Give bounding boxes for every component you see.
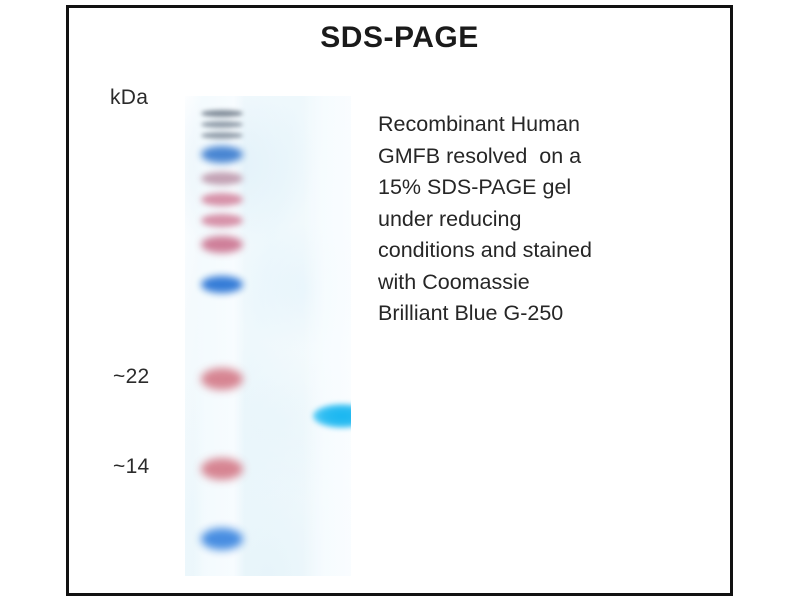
ladder-band <box>201 193 243 206</box>
ladder-band <box>201 214 243 227</box>
gel-lane-ladder <box>193 96 245 576</box>
mw-marker-label-22: ~22 <box>113 365 150 389</box>
ladder-band <box>201 172 243 185</box>
kda-axis-header: kDa <box>110 86 148 110</box>
ladder-band <box>201 528 243 550</box>
caption-line: 15% SDS-PAGE gel <box>378 172 678 204</box>
caption-line: with Coomassie <box>378 267 678 299</box>
ladder-band <box>201 110 243 117</box>
mw-marker-label-14: ~14 <box>113 455 150 479</box>
caption-line: Recombinant Human <box>378 109 678 141</box>
gel-lane-sample <box>303 96 351 576</box>
caption-line: Brilliant Blue G-250 <box>378 298 678 330</box>
figure-caption: Recombinant Human GMFB resolved on a 15%… <box>378 109 678 330</box>
ladder-band <box>201 146 243 163</box>
figure-panel: SDS-PAGE kDa ~22 ~14 Recombinant Human G… <box>66 5 733 596</box>
caption-line: GMFB resolved on a <box>378 141 678 173</box>
gel-image <box>185 96 351 576</box>
ladder-band <box>201 236 243 253</box>
caption-line: under reducing <box>378 204 678 236</box>
ladder-band <box>201 368 243 390</box>
ladder-band <box>201 276 243 293</box>
caption-line: conditions and stained <box>378 235 678 267</box>
page-title: SDS-PAGE <box>69 21 730 55</box>
ladder-band <box>201 132 243 139</box>
ladder-band <box>201 121 243 128</box>
ladder-band <box>201 458 243 480</box>
